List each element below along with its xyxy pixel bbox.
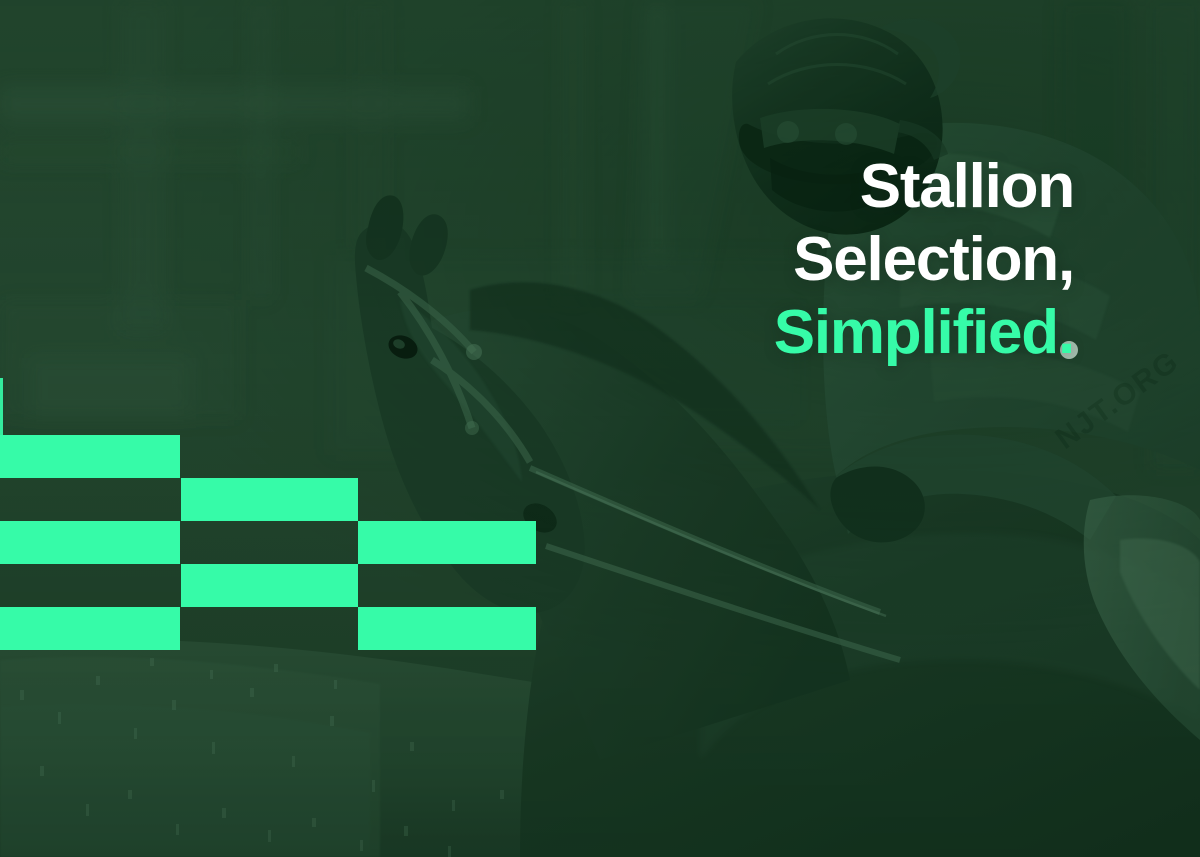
checker-cell-r3c1: [0, 521, 180, 564]
headline-line-2: Selection,: [594, 223, 1074, 296]
hero-headline: Stallion Selection, Simplified.: [594, 150, 1074, 369]
checker-cell-r5c2: [181, 607, 358, 650]
checker-cell-r5c1: [0, 607, 180, 650]
hero-banner: NJT.ORG: [0, 0, 1200, 857]
checker-cell-r1c2: [181, 435, 358, 478]
checker-cell-r2c3: [358, 478, 536, 521]
checker-cell-r2c1: [0, 478, 180, 521]
checker-cell-r4c1: [0, 564, 180, 607]
checker-cell-r3c2: [181, 521, 358, 564]
checker-cell-r3c3: [358, 521, 536, 564]
checker-cell-r1c3: [358, 435, 536, 478]
headline-line-3-accent: Simplified.: [594, 296, 1074, 369]
checker-cell-r4c2: [181, 564, 358, 607]
checker-cell-r4c3: [358, 564, 536, 607]
headline-line-1: Stallion: [594, 150, 1074, 223]
checkerboard-left-stripe: [0, 378, 3, 435]
checker-cell-r1c1: [0, 435, 180, 478]
mint-checkerboard-graphic: [0, 378, 536, 651]
checker-cell-r2c2: [181, 478, 358, 521]
checker-cell-r5c3: [358, 607, 536, 650]
